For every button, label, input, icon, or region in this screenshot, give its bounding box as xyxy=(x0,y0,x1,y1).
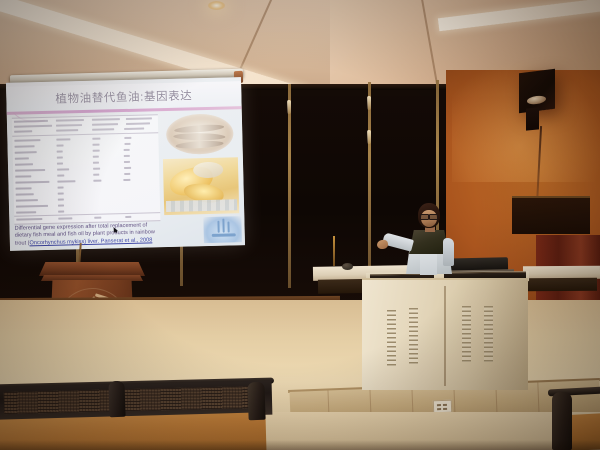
recessed-downlight-icon xyxy=(208,1,225,10)
desk-end-cap xyxy=(108,381,125,418)
panel-divider-strip xyxy=(368,82,371,288)
foreground-shadow xyxy=(0,440,600,450)
console-vent xyxy=(484,306,493,362)
photo-plate-pattern xyxy=(166,199,237,212)
console-vent xyxy=(462,306,471,362)
desk-end-cap xyxy=(247,382,265,421)
console-desk-right-under xyxy=(525,278,597,292)
console-vent xyxy=(387,310,396,366)
slide-photo-trout xyxy=(162,111,238,157)
lectern-top xyxy=(39,262,145,276)
slide-title: 植物油替代鱼油:基因表达 xyxy=(55,87,192,106)
speaker-bracket xyxy=(526,107,539,130)
projection-screen[interactable]: 植物油替代鱼油:基因表达 xyxy=(6,77,245,251)
wall-recess-frame xyxy=(512,196,590,234)
slide-photo-fillet xyxy=(163,157,239,215)
slide-caption: Differential gene expression after total… xyxy=(14,221,200,248)
presenter-right-arm xyxy=(443,238,454,266)
slide-data-table xyxy=(12,114,161,225)
console-vent xyxy=(409,308,418,364)
glasses-icon xyxy=(420,214,438,218)
slide-logo-icon xyxy=(203,216,242,243)
console-door-split xyxy=(444,286,446,386)
console-pole xyxy=(333,236,335,266)
presentation-slide: 植物油替代鱼油:基因表达 xyxy=(6,77,245,251)
lecture-hall-photo: 植物油替代鱼油:基因表达 xyxy=(0,0,600,450)
speaker-cone xyxy=(527,95,546,105)
console-knob[interactable] xyxy=(342,263,353,270)
panel-divider-strip xyxy=(288,84,291,288)
strip-highlight xyxy=(287,100,291,114)
strip-highlight xyxy=(367,130,371,144)
strip-highlight xyxy=(367,96,371,110)
